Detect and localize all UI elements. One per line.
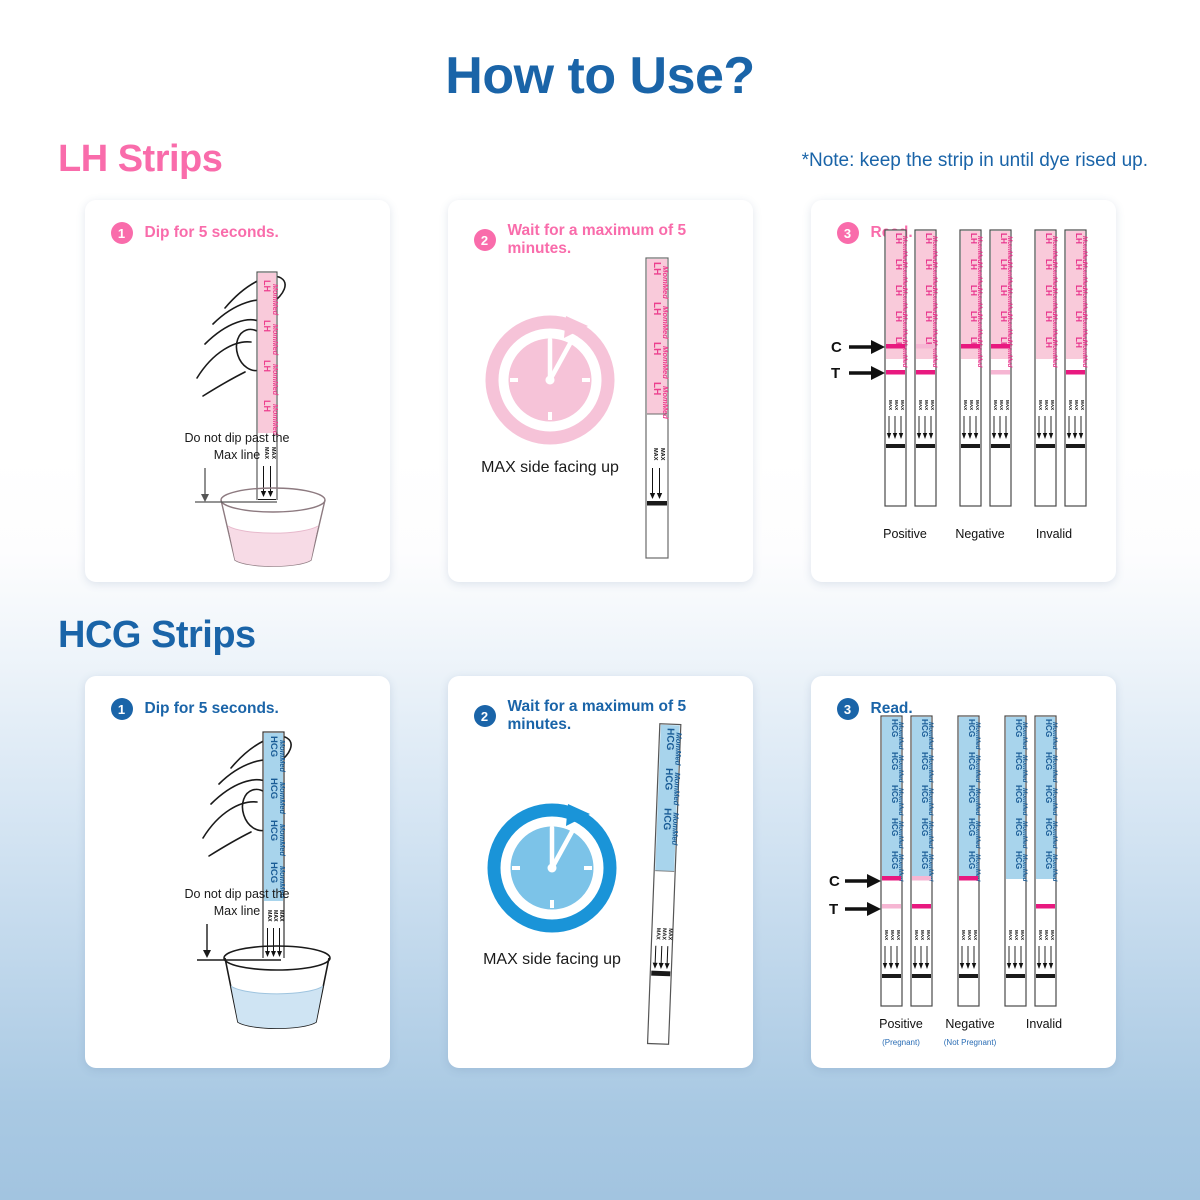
- svg-text:MAX: MAX: [270, 447, 276, 459]
- svg-text:LH: LH: [651, 342, 662, 355]
- svg-text:MAX: MAX: [884, 930, 889, 941]
- illustration-dip-hcg: MomMed HCG MomMed HCG MomMed HCG MomMed …: [85, 676, 390, 1068]
- svg-text:HCG: HCG: [920, 785, 929, 803]
- svg-text:LH: LH: [999, 311, 1008, 322]
- svg-text:HCG: HCG: [920, 818, 929, 836]
- result-sublabel-positive: (Pregnant): [882, 1038, 920, 1047]
- svg-text:MAX: MAX: [900, 400, 905, 411]
- svg-text:MAX: MAX: [896, 930, 901, 941]
- svg-text:MAX: MAX: [973, 930, 978, 941]
- svg-text:MAX: MAX: [969, 400, 974, 411]
- svg-text:MAX: MAX: [924, 400, 929, 411]
- result-label-negative: Negative: [945, 1017, 994, 1031]
- note-text: *Note: keep the strip in until dye rised…: [802, 150, 1148, 172]
- svg-text:HCG: HCG: [662, 768, 674, 791]
- timer-icon: [492, 316, 610, 438]
- svg-text:HCG: HCG: [890, 818, 899, 836]
- svg-text:HCG: HCG: [890, 851, 899, 869]
- caption-max-side: MAX side facing up: [481, 459, 619, 476]
- svg-text:HCG: HCG: [920, 719, 929, 737]
- svg-text:MAX: MAX: [659, 448, 665, 461]
- svg-text:MAX: MAX: [1044, 400, 1049, 411]
- svg-text:HCG: HCG: [1014, 785, 1023, 803]
- timer-icon: [494, 804, 612, 926]
- svg-text:LH: LH: [969, 259, 978, 270]
- svg-text:LH: LH: [1074, 259, 1083, 270]
- svg-text:LH: LH: [924, 311, 933, 322]
- control-line-label: C: [831, 339, 842, 356]
- svg-text:HCG: HCG: [660, 808, 672, 831]
- svg-text:LH: LH: [651, 302, 662, 315]
- test-strip: MomMedHCGMomMedHCGMomMedHCGMomMedHCGMomM…: [1005, 716, 1028, 1006]
- test-strip: MomMedHCGMomMedHCGMomMedHCGMomMedHCGMomM…: [958, 716, 981, 1006]
- svg-text:HCG: HCG: [1044, 785, 1053, 803]
- svg-text:LH: LH: [1074, 311, 1083, 322]
- lh-step-cards: 1 Dip for 5 seconds. MomMed: [0, 200, 1200, 582]
- caption-line-2: Max line: [213, 448, 260, 462]
- result-label-invalid: Invalid: [1035, 527, 1071, 541]
- svg-text:MAX: MAX: [967, 930, 972, 941]
- card-hcg-step-1[interactable]: 1 Dip for 5 seconds. MomMed HCG: [85, 676, 390, 1068]
- svg-text:MAX: MAX: [993, 400, 998, 411]
- svg-text:LH: LH: [1074, 285, 1083, 296]
- svg-text:MAX: MAX: [975, 400, 980, 411]
- svg-text:LH: LH: [969, 311, 978, 322]
- svg-text:MAX: MAX: [894, 400, 899, 411]
- svg-text:HCG: HCG: [268, 736, 279, 757]
- svg-text:MAX: MAX: [961, 930, 966, 941]
- result-sublabel-negative: (Not Pregnant): [943, 1038, 996, 1047]
- caption-line-1: Do not dip past the: [184, 431, 289, 445]
- svg-text:MAX: MAX: [1038, 400, 1043, 411]
- illustration-read-lh: C T MomMedLHMomMedLHMomMedLHMomMedLHMomM…: [811, 200, 1116, 582]
- illustration-dip-lh: MomMed LH MomMed LH MomMed LH MomMed LH …: [85, 200, 390, 582]
- svg-text:MAX: MAX: [278, 910, 284, 922]
- test-line-label: T: [829, 901, 838, 918]
- svg-text:HCG: HCG: [967, 818, 976, 836]
- svg-text:HCG: HCG: [1014, 752, 1023, 770]
- svg-text:HCG: HCG: [268, 820, 279, 841]
- svg-text:LH: LH: [1074, 233, 1083, 244]
- svg-text:LH: LH: [894, 233, 903, 244]
- svg-text:LH: LH: [1044, 311, 1053, 322]
- card-hcg-step-2[interactable]: 2 Wait for a maximum of 5 minutes.: [448, 676, 753, 1068]
- svg-text:HCG: HCG: [967, 851, 976, 869]
- svg-text:MAX: MAX: [272, 910, 278, 922]
- card-lh-step-3[interactable]: 3 Read. C T MomMedLHMomMedLHMomMedLHMomM…: [811, 200, 1116, 582]
- svg-text:LH: LH: [924, 233, 933, 244]
- result-label-negative: Negative: [955, 527, 1004, 541]
- test-strip: MomMedLHMomMedLHMomMedLHMomMedLHMomMedLH…: [885, 230, 908, 506]
- svg-text:HCG: HCG: [663, 728, 675, 751]
- svg-text:LH: LH: [1044, 285, 1053, 296]
- svg-text:HCG: HCG: [1044, 719, 1053, 737]
- svg-text:HCG: HCG: [268, 862, 279, 883]
- illustration-wait-hcg: MAX side facing up MomMed HCG MomMed HCG…: [448, 676, 753, 1068]
- svg-text:LH: LH: [969, 233, 978, 244]
- svg-text:HCG: HCG: [1044, 851, 1053, 869]
- svg-text:MAX: MAX: [999, 400, 1004, 411]
- svg-text:LH: LH: [894, 311, 903, 322]
- svg-text:MAX: MAX: [1038, 930, 1043, 941]
- svg-text:LH: LH: [1074, 337, 1083, 348]
- svg-text:MAX: MAX: [660, 928, 666, 941]
- svg-text:HCG: HCG: [967, 719, 976, 737]
- section-header-lh: LH Strips *Note: keep the strip in until…: [0, 138, 1200, 200]
- result-label-invalid: Invalid: [1025, 1017, 1061, 1031]
- svg-text:MAX: MAX: [1014, 930, 1019, 941]
- svg-text:LH: LH: [262, 320, 272, 332]
- caption-line-2: Max line: [213, 904, 260, 918]
- svg-text:MAX: MAX: [1020, 930, 1025, 941]
- svg-text:LH: LH: [262, 280, 272, 292]
- svg-text:MAX: MAX: [1044, 930, 1049, 941]
- svg-text:MAX: MAX: [920, 930, 925, 941]
- svg-text:MAX: MAX: [1068, 400, 1073, 411]
- test-strip: MomMedHCGMomMedHCGMomMedHCGMomMedHCGMomM…: [881, 716, 904, 1006]
- svg-text:MAX: MAX: [666, 928, 672, 941]
- max-label: MAX: [263, 447, 269, 459]
- hcg-step-cards: 1 Dip for 5 seconds. MomMed HCG: [0, 676, 1200, 1068]
- svg-text:LH: LH: [999, 285, 1008, 296]
- svg-text:HCG: HCG: [920, 752, 929, 770]
- test-strip: MomMedLHMomMedLHMomMedLHMomMedLHMomMedLH…: [960, 230, 983, 506]
- svg-text:MAX: MAX: [963, 400, 968, 411]
- svg-text:LH: LH: [651, 382, 662, 395]
- svg-text:MAX: MAX: [930, 400, 935, 411]
- svg-text:HCG: HCG: [890, 719, 899, 737]
- svg-text:HCG: HCG: [967, 752, 976, 770]
- test-strip: MomMedLHMomMedLHMomMedLHMomMedLHMomMedLH…: [1065, 230, 1088, 506]
- svg-text:LH: LH: [924, 285, 933, 296]
- caption-max-side: MAX side facing up: [483, 951, 621, 968]
- svg-text:MAX: MAX: [918, 400, 923, 411]
- card-lh-step-2[interactable]: 2 Wait for a maximum of 5 minutes.: [448, 200, 753, 582]
- svg-text:MAX: MAX: [1008, 930, 1013, 941]
- test-strip: MomMedLHMomMedLHMomMedLHMomMedLHMomMedLH…: [1035, 230, 1058, 506]
- test-line-label: T: [831, 365, 840, 382]
- illustration-read-hcg: C T MomMedHCGMomMedHCGMomMedHCGMomMedHCG…: [811, 676, 1116, 1068]
- test-strip: MomMedLHMomMedLHMomMedLHMomMedLHMomMedLH…: [990, 230, 1013, 506]
- caption-line-1: Do not dip past the: [184, 887, 289, 901]
- svg-text:HCG: HCG: [1044, 818, 1053, 836]
- svg-text:HCG: HCG: [1014, 818, 1023, 836]
- svg-text:LH: LH: [1044, 233, 1053, 244]
- svg-text:LH: LH: [999, 259, 1008, 270]
- section-title-hcg: HCG Strips: [58, 614, 256, 657]
- svg-text:HCG: HCG: [1014, 851, 1023, 869]
- svg-text:MAX: MAX: [1050, 930, 1055, 941]
- test-strip: MomMedHCGMomMedHCGMomMedHCGMomMedHCGMomM…: [911, 716, 934, 1006]
- svg-text:MAX: MAX: [266, 910, 272, 922]
- svg-text:MAX: MAX: [1050, 400, 1055, 411]
- svg-text:LH: LH: [894, 259, 903, 270]
- control-line-label: C: [829, 873, 840, 890]
- svg-text:LH: LH: [651, 262, 662, 275]
- svg-text:LH: LH: [1044, 337, 1053, 348]
- page-title: How to Use?: [0, 0, 1200, 106]
- svg-text:LH: LH: [924, 259, 933, 270]
- svg-text:MAX: MAX: [890, 930, 895, 941]
- test-strip: MomMedHCGMomMedHCGMomMedHCGMomMedHCGMomM…: [1035, 716, 1058, 1006]
- svg-text:LH: LH: [1044, 259, 1053, 270]
- result-label-positive: Positive: [879, 1017, 923, 1031]
- svg-text:HCG: HCG: [1044, 752, 1053, 770]
- svg-text:LH: LH: [999, 233, 1008, 244]
- card-lh-step-1[interactable]: 1 Dip for 5 seconds. MomMed: [85, 200, 390, 582]
- svg-text:MAX: MAX: [888, 400, 893, 411]
- svg-text:HCG: HCG: [890, 752, 899, 770]
- svg-text:LH: LH: [262, 400, 272, 412]
- svg-text:HCG: HCG: [920, 851, 929, 869]
- section-header-hcg: HCG Strips: [0, 614, 1200, 676]
- svg-text:HCG: HCG: [890, 785, 899, 803]
- svg-text:MAX: MAX: [1005, 400, 1010, 411]
- svg-text:HCG: HCG: [268, 778, 279, 799]
- result-label-positive: Positive: [883, 527, 927, 541]
- svg-text:HCG: HCG: [1014, 719, 1023, 737]
- svg-text:LH: LH: [969, 285, 978, 296]
- svg-text:MAX: MAX: [914, 930, 919, 941]
- test-strip: MomMedLHMomMedLHMomMedLHMomMedLHMomMedLH…: [915, 230, 938, 506]
- svg-text:MAX: MAX: [1074, 400, 1079, 411]
- section-title-lh: LH Strips: [58, 138, 222, 181]
- card-hcg-step-3[interactable]: 3 Read. C T MomMedHCGMomMedHCGMomMedHCGM…: [811, 676, 1116, 1068]
- svg-text:MAX: MAX: [654, 928, 660, 941]
- svg-text:LH: LH: [894, 285, 903, 296]
- svg-text:LH: LH: [262, 360, 272, 372]
- svg-text:MAX: MAX: [652, 448, 658, 461]
- illustration-wait-lh: MAX side facing up MomMed LH MomMed LH M…: [448, 200, 753, 582]
- svg-text:MAX: MAX: [1080, 400, 1085, 411]
- svg-text:HCG: HCG: [967, 785, 976, 803]
- svg-text:MAX: MAX: [926, 930, 931, 941]
